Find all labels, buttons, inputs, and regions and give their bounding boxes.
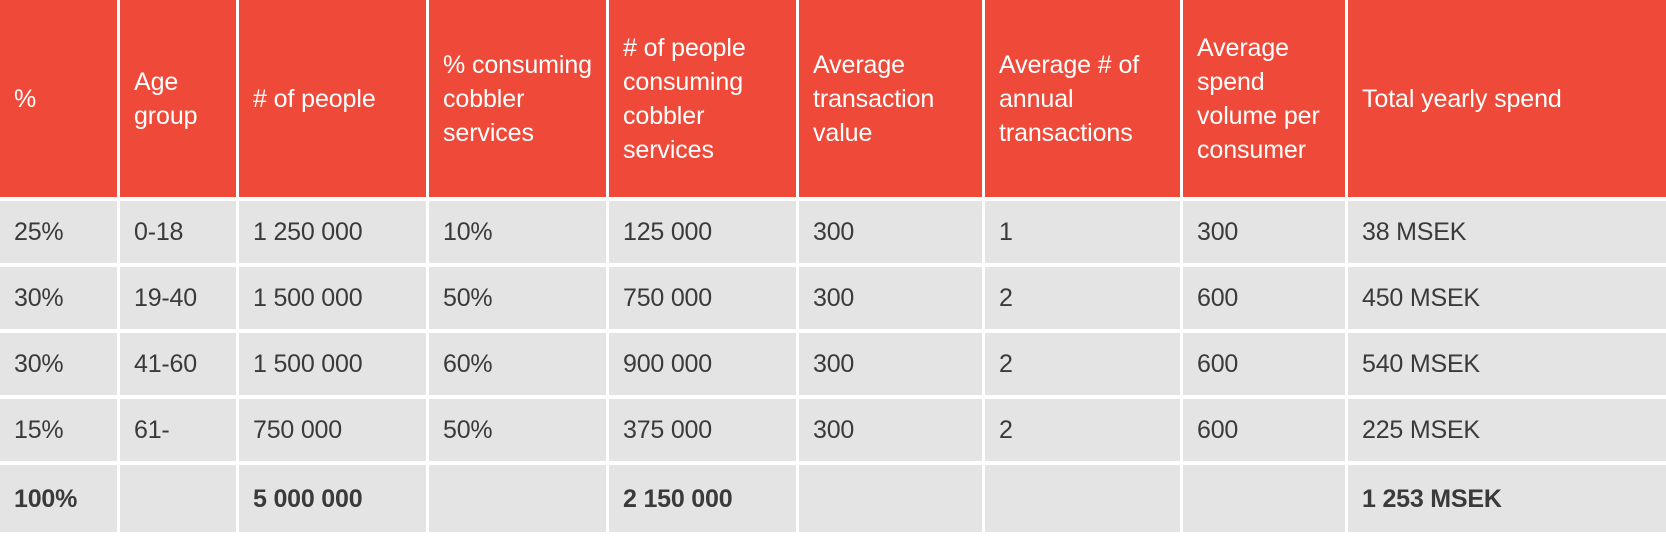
cell-avg-spend-per-consumer: 600: [1183, 263, 1348, 329]
cell-pct: 15%: [0, 395, 120, 461]
table-row: 25% 0-18 1 250 000 10% 125 000 300 1 300…: [0, 197, 1666, 263]
cell-total-yearly-spend: 38 MSEK: [1348, 197, 1666, 263]
table-row: 15% 61- 750 000 50% 375 000 300 2 600 22…: [0, 395, 1666, 461]
column-header-pct-consuming: % consuming cobbler services: [429, 0, 609, 197]
cell-avg-annual-transactions: 1: [985, 197, 1183, 263]
table-header-row: % Age group # of people % consuming cobb…: [0, 0, 1666, 197]
cell-avg-annual-transactions: 2: [985, 329, 1183, 395]
cell-pct: 30%: [0, 263, 120, 329]
cell-pct-consuming: 60%: [429, 329, 609, 395]
cell-age-group: 19-40: [120, 263, 239, 329]
cell-num-people-total: 5 000 000: [239, 461, 429, 532]
cell-num-people: 750 000: [239, 395, 429, 461]
cell-total-yearly-spend: 225 MSEK: [1348, 395, 1666, 461]
cell-avg-annual-transactions: 2: [985, 263, 1183, 329]
column-header-avg-transaction-value: Average transaction value: [799, 0, 985, 197]
cell-age-group-total: [120, 461, 239, 532]
cobbler-market-sizing-table: % Age group # of people % consuming cobb…: [0, 0, 1666, 559]
cell-avg-transaction-value: 300: [799, 329, 985, 395]
cell-pct-consuming: 50%: [429, 395, 609, 461]
cell-num-consuming: 125 000: [609, 197, 799, 263]
cell-total-yearly-spend: 450 MSEK: [1348, 263, 1666, 329]
cell-avg-transaction-value: 300: [799, 263, 985, 329]
cell-num-people: 1 250 000: [239, 197, 429, 263]
column-header-num-people: # of people: [239, 0, 429, 197]
table-total-row: 100% 5 000 000 2 150 000 1 253 MSEK: [0, 461, 1666, 532]
cell-num-consuming: 375 000: [609, 395, 799, 461]
cell-total-yearly-spend-total: 1 253 MSEK: [1348, 461, 1666, 532]
column-header-num-consuming: # of people consuming cobbler services: [609, 0, 799, 197]
cell-age-group: 0-18: [120, 197, 239, 263]
table-row: 30% 19-40 1 500 000 50% 750 000 300 2 60…: [0, 263, 1666, 329]
cell-avg-transaction-value: 300: [799, 197, 985, 263]
cell-avg-annual-transactions-total: [985, 461, 1183, 532]
column-header-pct: %: [0, 0, 120, 197]
cell-avg-transaction-value: 300: [799, 395, 985, 461]
column-header-avg-spend-per-consumer: Average spend volume per consumer: [1183, 0, 1348, 197]
cell-age-group: 41-60: [120, 329, 239, 395]
cell-pct-consuming: 10%: [429, 197, 609, 263]
column-header-avg-annual-transactions: Average # of annual transactions: [985, 0, 1183, 197]
column-header-age-group: Age group: [120, 0, 239, 197]
cell-avg-spend-per-consumer: 600: [1183, 329, 1348, 395]
cell-pct-total: 100%: [0, 461, 120, 532]
cell-avg-annual-transactions: 2: [985, 395, 1183, 461]
cell-num-people: 1 500 000: [239, 329, 429, 395]
cell-avg-transaction-value-total: [799, 461, 985, 532]
cell-num-consuming-total: 2 150 000: [609, 461, 799, 532]
cell-avg-spend-per-consumer-total: [1183, 461, 1348, 532]
cell-pct: 25%: [0, 197, 120, 263]
cell-avg-spend-per-consumer: 300: [1183, 197, 1348, 263]
cell-pct-consuming: 50%: [429, 263, 609, 329]
cell-num-consuming: 900 000: [609, 329, 799, 395]
cell-num-people: 1 500 000: [239, 263, 429, 329]
cell-pct-consuming-total: [429, 461, 609, 532]
cell-avg-spend-per-consumer: 600: [1183, 395, 1348, 461]
data-table: % Age group # of people % consuming cobb…: [0, 0, 1666, 532]
cell-pct: 30%: [0, 329, 120, 395]
cell-age-group: 61-: [120, 395, 239, 461]
cell-num-consuming: 750 000: [609, 263, 799, 329]
cell-total-yearly-spend: 540 MSEK: [1348, 329, 1666, 395]
column-header-total-yearly-spend: Total yearly spend: [1348, 0, 1666, 197]
table-row: 30% 41-60 1 500 000 60% 900 000 300 2 60…: [0, 329, 1666, 395]
